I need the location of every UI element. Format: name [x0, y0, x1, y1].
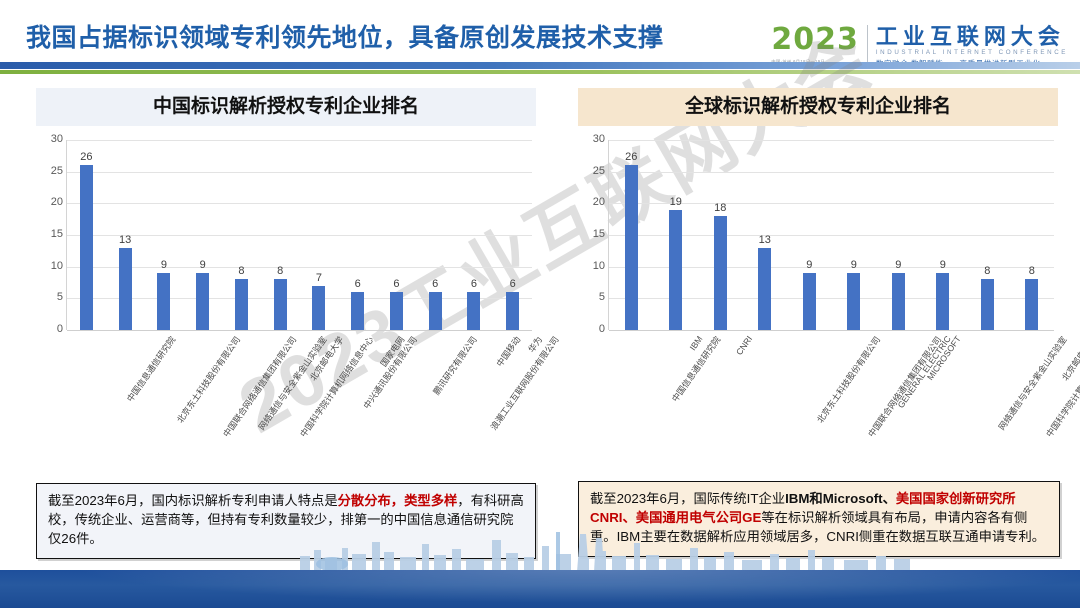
x-axis-category-label: 中国移动	[494, 334, 524, 369]
bar-value-label: 6	[355, 279, 361, 290]
bar-item[interactable]: 6	[493, 140, 532, 330]
bar-value-label: 18	[714, 203, 726, 214]
panel-title-global: 全球标识解析授权专利企业排名	[578, 88, 1058, 126]
y-axis-tick: 0	[579, 323, 605, 335]
slide-header: 我国占据标识领域专利领先地位，具备原创发展技术支撑 2023 中国·苏州 6月1…	[0, 0, 1080, 66]
bar-rect[interactable]	[274, 279, 287, 330]
category-labels-china: 中国信息通信研究院北京东土科技股份有限公司中国联合网络通信集团有限公司网络通信与…	[66, 334, 536, 464]
bar-item[interactable]: 6	[455, 140, 494, 330]
bar-rect[interactable]	[196, 273, 209, 330]
bar-value-label: 26	[80, 152, 92, 163]
footer-sheen	[0, 570, 1080, 608]
gridline	[67, 330, 532, 331]
callout-left-seg1: 截至2023年6月，国内标识解析专利申请人特点是	[48, 493, 338, 508]
plot-area-china: 05101520253026139988766666	[66, 140, 532, 330]
bar-value-label: 8	[1029, 266, 1035, 277]
bar-item[interactable]: 9	[832, 140, 877, 330]
logo-conference-name-en: INDUSTRIAL INTERNET CONFERENCE	[876, 49, 1068, 56]
bar-item[interactable]: 19	[654, 140, 699, 330]
logo-year-group: 2023 中国·苏州 6月18日—19日	[771, 25, 859, 65]
bar-item[interactable]: 9	[145, 140, 184, 330]
bar-rect[interactable]	[80, 165, 93, 330]
bar-item[interactable]: 8	[261, 140, 300, 330]
bar-rect[interactable]	[714, 216, 727, 330]
bar-value-label: 7	[316, 273, 322, 284]
bar-item[interactable]: 13	[106, 140, 145, 330]
bar-item[interactable]: 6	[338, 140, 377, 330]
bar-item[interactable]: 7	[300, 140, 339, 330]
y-axis-tick: 10	[37, 260, 63, 272]
bar-value-label: 9	[940, 260, 946, 271]
bar-value-label: 19	[670, 197, 682, 208]
bar-value-label: 9	[851, 260, 857, 271]
chart-global-ranking: 05101520253026191813999988 中国信息通信研究院IBMC…	[578, 134, 1058, 364]
category-labels-global: 中国信息通信研究院IBMCNRI北京东土科技股份有限公司中国联合网络通信集团有限…	[608, 334, 1058, 464]
bar-group: 26139988766666	[67, 140, 532, 330]
bar-value-label: 9	[200, 260, 206, 271]
bar-value-label: 8	[277, 266, 283, 277]
bar-rect[interactable]	[390, 292, 403, 330]
chart-china-ranking: 05101520253026139988766666 中国信息通信研究院北京东土…	[36, 134, 536, 364]
bar-item[interactable]: 18	[698, 140, 743, 330]
bar-item[interactable]: 6	[416, 140, 455, 330]
bar-rect[interactable]	[669, 210, 682, 330]
logo-conference-name-cn: 工业互联网大会	[876, 25, 1068, 48]
bar-rect[interactable]	[119, 248, 132, 330]
y-axis-tick: 5	[37, 291, 63, 303]
y-axis-tick: 30	[37, 133, 63, 145]
bar-rect[interactable]	[847, 273, 860, 330]
callout-right-bold: IBM和Microsoft、	[785, 491, 896, 506]
bar-value-label: 13	[119, 235, 131, 246]
bar-item[interactable]: 9	[921, 140, 966, 330]
bar-value-label: 6	[393, 279, 399, 290]
bar-item[interactable]: 13	[743, 140, 788, 330]
bar-rect[interactable]	[312, 286, 325, 330]
logo-year: 2023	[771, 25, 859, 55]
y-axis-tick: 10	[579, 260, 605, 272]
y-axis-tick: 15	[37, 228, 63, 240]
y-axis-tick: 30	[579, 133, 605, 145]
bar-value-label: 9	[161, 260, 167, 271]
x-axis-category-label: 鹏讯研究有限公司	[431, 334, 480, 397]
bar-value-label: 8	[238, 266, 244, 277]
x-axis-category-label: 北京东土科技股份有限公司	[174, 334, 243, 425]
page-title: 我国占据标识领域专利领先地位，具备原创发展技术支撑	[26, 18, 664, 54]
bar-item[interactable]: 26	[609, 140, 654, 330]
x-axis-category-label: 北京东土科技股份有限公司	[814, 334, 883, 425]
bar-item[interactable]: 8	[222, 140, 261, 330]
bar-group: 26191813999988	[609, 140, 1054, 330]
bar-rect[interactable]	[758, 248, 771, 330]
x-axis-category-label: GENERAL ELECTRIC	[895, 334, 952, 410]
y-axis-tick: 25	[579, 165, 605, 177]
y-axis-tick: 20	[37, 196, 63, 208]
header-divider-green	[0, 70, 1080, 74]
bar-item[interactable]: 9	[183, 140, 222, 330]
bar-value-label: 6	[432, 279, 438, 290]
callout-box-china: 截至2023年6月，国内标识解析专利申请人特点是分散分布，类型多样，有科研高校，…	[36, 483, 536, 559]
bar-rect[interactable]	[351, 292, 364, 330]
bar-rect[interactable]	[157, 273, 170, 330]
x-axis-category-label: 中国信息通信研究院	[124, 334, 178, 404]
bar-rect[interactable]	[235, 279, 248, 330]
bar-value-label: 9	[806, 260, 812, 271]
y-axis-tick: 25	[37, 165, 63, 177]
bar-rect[interactable]	[936, 273, 949, 330]
logo-divider	[867, 25, 868, 65]
bar-value-label: 8	[984, 266, 990, 277]
bar-rect[interactable]	[506, 292, 519, 330]
gridline	[609, 330, 1054, 331]
callout-left-highlight: 分散分布，类型多样	[338, 493, 458, 508]
y-axis-tick: 20	[579, 196, 605, 208]
bar-item[interactable]: 9	[787, 140, 832, 330]
bar-item[interactable]: 8	[1010, 140, 1055, 330]
panel-title-china: 中国标识解析授权专利企业排名	[36, 88, 536, 126]
bar-value-label: 9	[895, 260, 901, 271]
panel-global-ranking: 全球标识解析授权专利企业排名 0510152025302619181399998…	[578, 88, 1058, 364]
bar-rect[interactable]	[803, 273, 816, 330]
bar-item[interactable]: 6	[377, 140, 416, 330]
slide-root: 我国占据标识领域专利领先地位，具备原创发展技术支撑 2023 中国·苏州 6月1…	[0, 0, 1080, 608]
bar-rect[interactable]	[625, 165, 638, 330]
bar-rect[interactable]	[467, 292, 480, 330]
bar-value-label: 26	[625, 152, 637, 163]
bar-item[interactable]: 8	[965, 140, 1010, 330]
bar-value-label: 6	[510, 279, 516, 290]
bar-item[interactable]: 26	[67, 140, 106, 330]
header-divider-blue	[0, 62, 1080, 69]
bar-value-label: 13	[759, 235, 771, 246]
bar-rect[interactable]	[429, 292, 442, 330]
callout-box-global: 截至2023年6月，国际传统IT企业IBM和Microsoft、美国国家创新研究…	[578, 481, 1060, 557]
x-axis-category-label: CNRI	[734, 334, 754, 357]
panel-china-ranking: 中国标识解析授权专利企业排名 0510152025302613998876666…	[36, 88, 536, 364]
x-axis-category-label: 浪潮工业互联网股份有限公司	[488, 334, 562, 432]
y-axis-tick: 5	[579, 291, 605, 303]
bar-rect[interactable]	[1025, 279, 1038, 330]
callout-right-seg1: 截至2023年6月，国际传统IT企业	[590, 491, 785, 506]
bar-item[interactable]: 9	[876, 140, 921, 330]
bar-value-label: 6	[471, 279, 477, 290]
y-axis-tick: 0	[37, 323, 63, 335]
plot-area-global: 05101520253026191813999988	[608, 140, 1054, 330]
y-axis-tick: 15	[579, 228, 605, 240]
bar-rect[interactable]	[981, 279, 994, 330]
bar-rect[interactable]	[892, 273, 905, 330]
